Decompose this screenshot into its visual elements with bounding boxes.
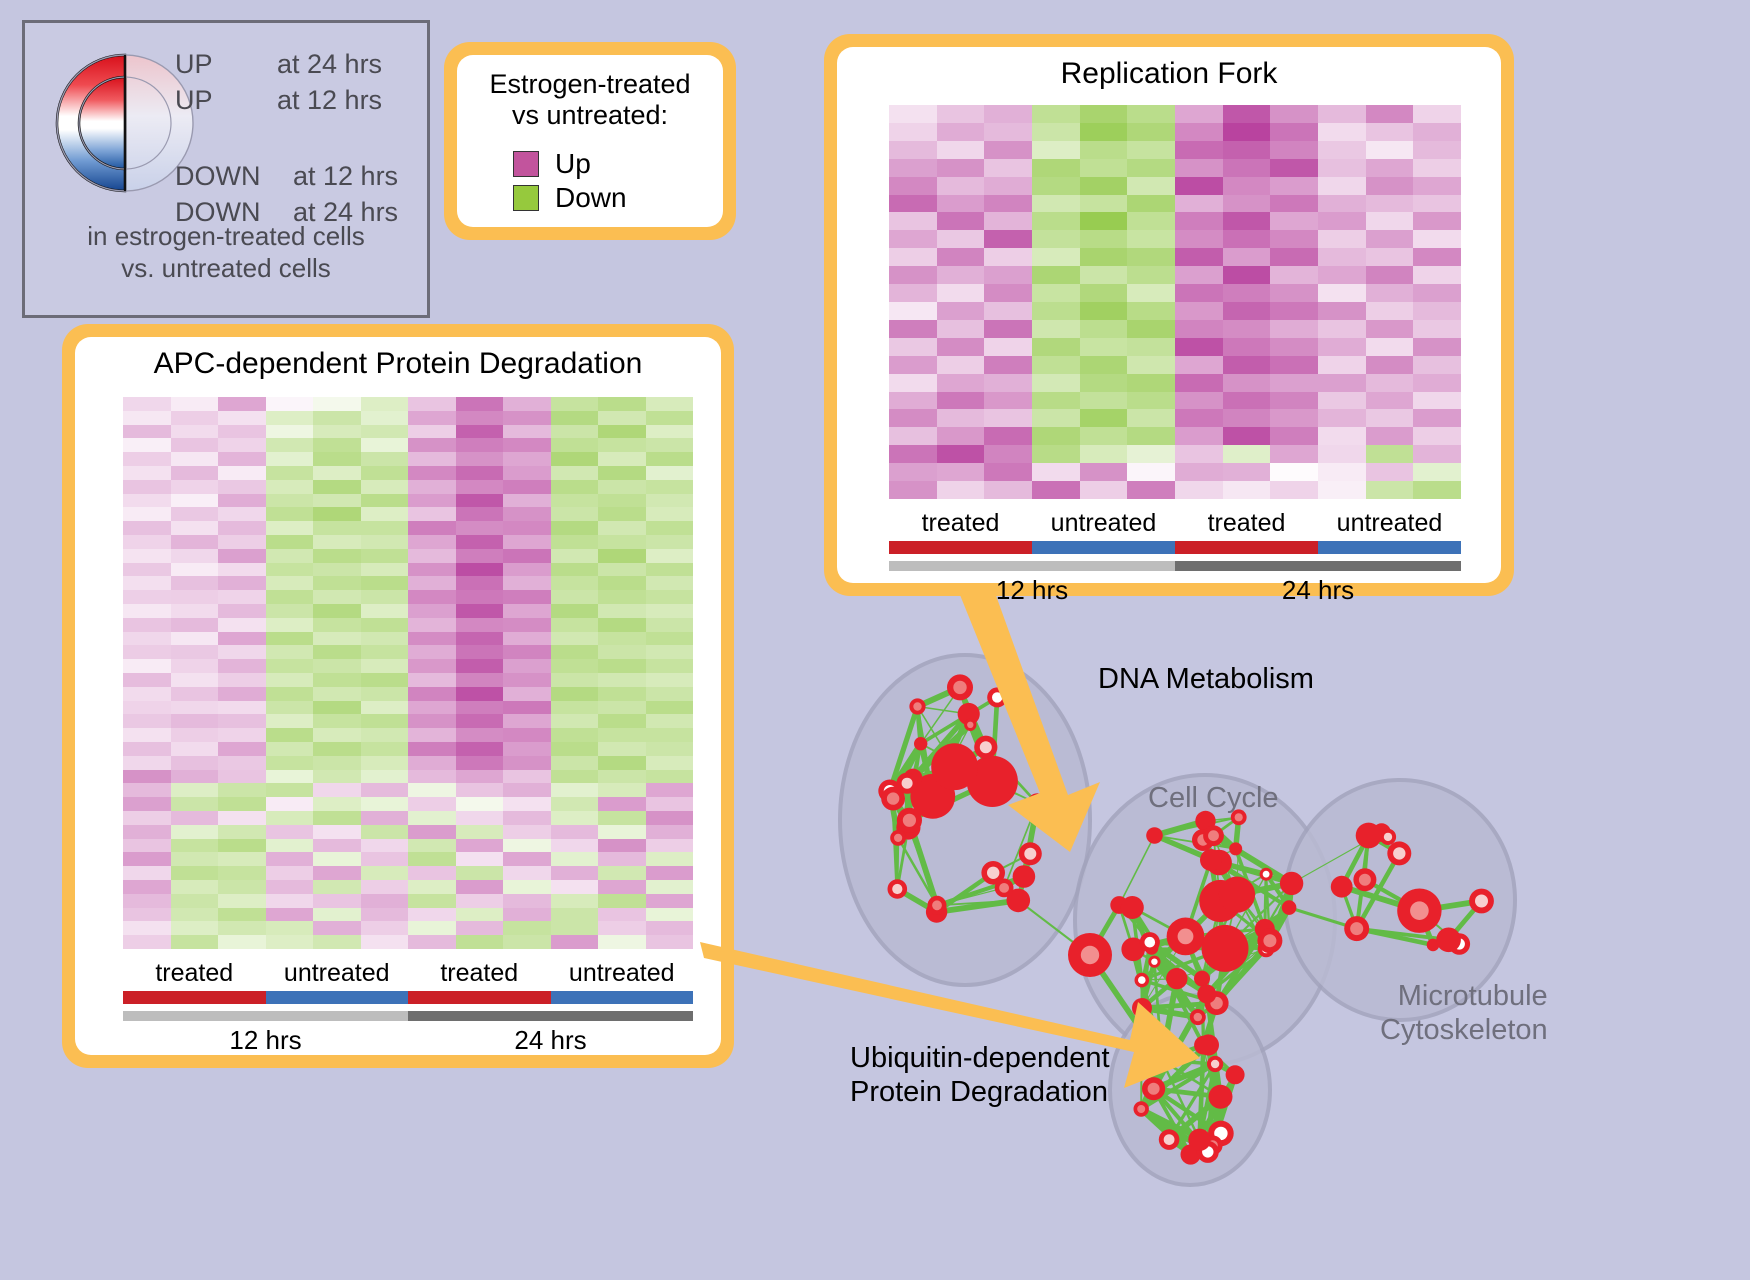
heatmap-cell xyxy=(1127,195,1175,213)
heatmap-cell xyxy=(1223,123,1271,141)
heatmap-cell xyxy=(171,852,219,866)
heatmap-cell xyxy=(408,783,456,797)
heatmap-cell xyxy=(984,212,1032,230)
heatmap-cell xyxy=(551,687,599,701)
heatmap-cell xyxy=(598,645,646,659)
heatmap-cell xyxy=(1127,374,1175,392)
heatmap-cell xyxy=(1032,320,1080,338)
color-key-rings xyxy=(55,41,195,201)
heatmap-cell xyxy=(1413,338,1461,356)
heatmap-cell xyxy=(1127,356,1175,374)
heatmap-cell xyxy=(218,701,266,715)
heatmap-cell xyxy=(123,494,171,508)
key-row-2-time: at 12 hrs xyxy=(293,163,398,190)
heatmap-cell xyxy=(1223,141,1271,159)
heatmap-cell xyxy=(646,521,694,535)
heatmap-cell xyxy=(1032,105,1080,123)
heatmap-cell xyxy=(1366,320,1414,338)
heatmap-cell xyxy=(266,839,314,853)
heatmap-cell xyxy=(1080,427,1128,445)
heatmap-cell xyxy=(456,728,504,742)
heatmap-cell xyxy=(123,880,171,894)
heatmap-cell xyxy=(218,866,266,880)
heatmap-cell xyxy=(361,590,409,604)
heatmap-cell xyxy=(1127,248,1175,266)
heatmap-cell xyxy=(598,590,646,604)
heatmap-cell xyxy=(1318,302,1366,320)
heatmap-cell xyxy=(408,659,456,673)
heatmap-cell xyxy=(218,590,266,604)
heatmap-cell xyxy=(503,480,551,494)
heatmap-cell xyxy=(1175,463,1223,481)
heatmap-cell xyxy=(598,797,646,811)
heatmap-cell xyxy=(171,880,219,894)
heatmap-cell xyxy=(218,659,266,673)
heatmap-cell xyxy=(313,535,361,549)
heatmap-cell xyxy=(1223,212,1271,230)
heatmap-cell xyxy=(408,411,456,425)
heatmap-cell xyxy=(984,392,1032,410)
heatmap-cell xyxy=(266,714,314,728)
heatmap-cell xyxy=(1032,212,1080,230)
heatmap-cell xyxy=(361,701,409,715)
heatmap-cell xyxy=(503,866,551,880)
heatmap-cell xyxy=(456,411,504,425)
heatmap-cell xyxy=(551,839,599,853)
heatmap-cell xyxy=(646,908,694,922)
heatmap-cell xyxy=(937,320,985,338)
heatmap-cell xyxy=(218,397,266,411)
heatmap-cell xyxy=(218,549,266,563)
heatmap-cell xyxy=(646,645,694,659)
heatmap-cell xyxy=(503,466,551,480)
heatmap-cell xyxy=(123,411,171,425)
heatmap-cell xyxy=(171,687,219,701)
heatmap-cell xyxy=(123,397,171,411)
heatmap-cell xyxy=(1366,409,1414,427)
heatmap-cell xyxy=(123,908,171,922)
heatmap-cell xyxy=(1318,320,1366,338)
heatmap-cell xyxy=(1270,230,1318,248)
heatmap-cell xyxy=(123,535,171,549)
heatmap-cell xyxy=(408,590,456,604)
axis-time-bar xyxy=(123,1011,408,1021)
heatmap-cell xyxy=(313,563,361,577)
heatmap-cell xyxy=(123,921,171,935)
heatmap-cell xyxy=(1270,123,1318,141)
heatmap-cell xyxy=(361,921,409,935)
heatmap-cell xyxy=(1032,409,1080,427)
heatmap-cell xyxy=(1318,123,1366,141)
heatmap-cell xyxy=(408,480,456,494)
heatmap-cell xyxy=(456,563,504,577)
heatmap-cell xyxy=(171,494,219,508)
heatmap-cell xyxy=(1032,427,1080,445)
heatmap-cell xyxy=(1318,338,1366,356)
heatmap-cell xyxy=(266,576,314,590)
heatmap-cell xyxy=(1223,284,1271,302)
heatmap-cell xyxy=(266,563,314,577)
heatmap-cell xyxy=(456,673,504,687)
heatmap-cell xyxy=(503,604,551,618)
heatmap-cell xyxy=(937,105,985,123)
heatmap-cell xyxy=(598,480,646,494)
heatmap-cell xyxy=(937,481,985,499)
apc-group-bars xyxy=(123,991,693,1004)
heatmap-cell xyxy=(1413,445,1461,463)
heatmap-cell xyxy=(503,590,551,604)
heatmap-cell xyxy=(598,894,646,908)
axis-group-bar xyxy=(408,991,551,1004)
heatmap-cell xyxy=(313,452,361,466)
heatmap-cell xyxy=(171,576,219,590)
heatmap-cell xyxy=(361,576,409,590)
heatmap-cell xyxy=(218,825,266,839)
axis-group-bar xyxy=(266,991,409,1004)
heatmap-cell xyxy=(1032,159,1080,177)
heatmap-cell xyxy=(1318,230,1366,248)
heatmap-cell xyxy=(646,935,694,949)
heatmap-cell xyxy=(171,728,219,742)
heatmap-cell xyxy=(123,590,171,604)
heatmap-cell xyxy=(1127,141,1175,159)
heatmap-cell xyxy=(646,494,694,508)
heatmap-cell xyxy=(646,563,694,577)
heatmap-cell xyxy=(1080,212,1128,230)
heatmap-cell xyxy=(456,466,504,480)
heatmap-cell xyxy=(646,535,694,549)
heatmap-cell xyxy=(266,494,314,508)
heatmap-cell xyxy=(503,618,551,632)
heatmap-cell xyxy=(1318,141,1366,159)
heatmap-cell xyxy=(313,673,361,687)
heatmap-cell xyxy=(313,645,361,659)
heatmap-cell xyxy=(1223,302,1271,320)
heatmap-cell xyxy=(123,894,171,908)
apc-time-labels: 12 hrs24 hrs xyxy=(123,1025,693,1056)
heatmap-cell xyxy=(1127,463,1175,481)
heatmap-cell xyxy=(646,659,694,673)
heatmap-cell xyxy=(456,839,504,853)
heatmap-cell xyxy=(456,590,504,604)
heatmap-cell xyxy=(1366,302,1414,320)
heatmap-cell xyxy=(123,466,171,480)
heatmap-cell xyxy=(646,604,694,618)
heatmap-cell xyxy=(551,783,599,797)
heatmap-cell xyxy=(503,521,551,535)
axis-group-label: treated xyxy=(123,959,266,988)
heatmap-cell xyxy=(503,935,551,949)
heatmap-cell xyxy=(646,894,694,908)
heatmap-cell xyxy=(937,284,985,302)
heatmap-cell xyxy=(361,535,409,549)
heatmap-cell xyxy=(937,374,985,392)
heatmap-cell xyxy=(503,839,551,853)
heatmap-cell xyxy=(456,770,504,784)
heatmap-cell xyxy=(266,604,314,618)
heatmap-cell xyxy=(1175,356,1223,374)
heatmap-cell xyxy=(266,908,314,922)
heatmap-cell xyxy=(937,195,985,213)
heatmap-cell xyxy=(1270,320,1318,338)
heatmap-cell xyxy=(266,852,314,866)
heatmap-cell xyxy=(361,839,409,853)
heatmap-cell xyxy=(361,783,409,797)
heatmap-cell xyxy=(456,507,504,521)
heatmap-cell xyxy=(361,811,409,825)
heatmap-cell xyxy=(123,866,171,880)
heatmap-cell xyxy=(598,507,646,521)
heatmap-cell xyxy=(1080,105,1128,123)
heatmap-cell xyxy=(408,507,456,521)
heatmap-cell xyxy=(551,632,599,646)
heatmap-cell xyxy=(1175,481,1223,499)
heatmap-cell xyxy=(1366,392,1414,410)
heatmap-cell xyxy=(1270,463,1318,481)
heatmap-cell xyxy=(313,921,361,935)
heatmap-cell xyxy=(503,921,551,935)
heatmap-cell xyxy=(171,673,219,687)
heatmap-cell xyxy=(218,783,266,797)
heatmap-cell xyxy=(598,632,646,646)
heatmap-cell xyxy=(1127,338,1175,356)
heatmap-cell xyxy=(551,935,599,949)
heatmap-cell xyxy=(646,825,694,839)
heatmap-cell xyxy=(1413,248,1461,266)
heatmap-cell xyxy=(361,397,409,411)
heatmap-cell xyxy=(598,728,646,742)
heatmap-cell xyxy=(646,714,694,728)
heatmap-cell xyxy=(123,645,171,659)
heatmap-cell xyxy=(266,673,314,687)
heatmap-cell xyxy=(266,770,314,784)
heatmap-cell xyxy=(361,756,409,770)
heatmap-cell xyxy=(313,935,361,949)
heatmap-cell xyxy=(1270,445,1318,463)
heatmap-cell xyxy=(937,463,985,481)
heatmap-cell xyxy=(646,783,694,797)
heatmap-cell xyxy=(937,302,985,320)
heatmap-cell xyxy=(266,632,314,646)
heatmap-cell xyxy=(1270,338,1318,356)
heatmap-cell xyxy=(984,195,1032,213)
heatmap-cell xyxy=(551,618,599,632)
key-row-2-label: DOWN xyxy=(175,161,260,191)
heatmap-cell xyxy=(646,866,694,880)
heatmap-cell xyxy=(1270,427,1318,445)
heatmap-cell xyxy=(1223,230,1271,248)
heatmap-cell xyxy=(171,714,219,728)
heatmap-cell xyxy=(937,177,985,195)
heatmap-cell xyxy=(171,659,219,673)
heatmap-cell xyxy=(361,908,409,922)
heatmap-cell xyxy=(266,935,314,949)
heatmap-cell xyxy=(1223,320,1271,338)
heatmap-cell xyxy=(313,549,361,563)
heatmap-cell xyxy=(1032,248,1080,266)
heatmap-cell xyxy=(1223,356,1271,374)
heatmap-cell xyxy=(266,701,314,715)
heatmap-cell xyxy=(551,590,599,604)
heatmap-cell xyxy=(551,535,599,549)
apc-time-bars xyxy=(123,1011,693,1021)
heatmap-cell xyxy=(937,338,985,356)
heatmap-cell xyxy=(1175,266,1223,284)
heatmap-cell xyxy=(1080,338,1128,356)
heatmap-cell xyxy=(598,701,646,715)
heatmap-cell xyxy=(889,230,937,248)
heatmap-cell xyxy=(551,576,599,590)
heatmap-cell xyxy=(1413,463,1461,481)
heatmap-cell xyxy=(361,604,409,618)
axis-group-label: untreated xyxy=(1032,509,1175,538)
heatmap-cell xyxy=(598,935,646,949)
heatmap-cell xyxy=(1413,320,1461,338)
heatmap-cell xyxy=(646,425,694,439)
heatmap-cell xyxy=(598,921,646,935)
heatmap-cell xyxy=(313,494,361,508)
heatmap-cell xyxy=(361,797,409,811)
apc-group-labels: treateduntreatedtreateduntreated xyxy=(123,959,693,988)
heatmap-cell xyxy=(1080,230,1128,248)
heatmap-cell xyxy=(1318,284,1366,302)
heatmap-cell xyxy=(361,659,409,673)
heatmap-cell xyxy=(646,507,694,521)
heatmap-cell xyxy=(984,141,1032,159)
heatmap-cell xyxy=(171,839,219,853)
heatmap-cell xyxy=(456,425,504,439)
heatmap-cell xyxy=(1318,374,1366,392)
heatmap-cell xyxy=(1223,374,1271,392)
heatmap-cell xyxy=(1270,392,1318,410)
heatmap-cell xyxy=(1413,141,1461,159)
heatmap-cell xyxy=(408,687,456,701)
heatmap-cell xyxy=(1318,195,1366,213)
heatmap-cell xyxy=(984,177,1032,195)
heatmap-cell xyxy=(313,466,361,480)
heatmap-cell xyxy=(646,466,694,480)
heatmap-cell xyxy=(1175,445,1223,463)
heatmap-cell xyxy=(598,756,646,770)
heatmap-cell xyxy=(456,632,504,646)
heatmap-cell xyxy=(1032,463,1080,481)
heatmap-cell xyxy=(1080,463,1128,481)
heatmap-cell xyxy=(598,535,646,549)
heatmap-cell xyxy=(984,266,1032,284)
replication-fork-heatmap xyxy=(889,105,1461,499)
heatmap-cell xyxy=(646,397,694,411)
heatmap-cell xyxy=(408,645,456,659)
heatmap-cell xyxy=(551,908,599,922)
heatmap-cell xyxy=(456,494,504,508)
heatmap-cell xyxy=(1270,105,1318,123)
heatmap-cell xyxy=(361,687,409,701)
heatmap-cell xyxy=(361,714,409,728)
heatmap-cell xyxy=(408,604,456,618)
heatmap-cell xyxy=(646,411,694,425)
heatmap-cell xyxy=(123,701,171,715)
heatmap-cell xyxy=(984,320,1032,338)
heatmap-cell xyxy=(937,230,985,248)
heatmap-cell xyxy=(171,797,219,811)
arrow-replication-fork-icon xyxy=(950,590,1130,860)
key-row-0-label: UP xyxy=(175,49,213,79)
heatmap-cell xyxy=(551,438,599,452)
heatmap-cell xyxy=(1175,284,1223,302)
heatmap-cell xyxy=(889,338,937,356)
heatmap-cell xyxy=(1318,248,1366,266)
heatmap-cell xyxy=(1080,284,1128,302)
heatmap-cell xyxy=(1032,141,1080,159)
heatmap-cell xyxy=(361,521,409,535)
heatmap-cell xyxy=(123,770,171,784)
heatmap-cell xyxy=(218,425,266,439)
heatmap-cell xyxy=(171,397,219,411)
heatmap-cell xyxy=(361,632,409,646)
axis-group-label: treated xyxy=(889,509,1032,538)
heatmap-cell xyxy=(1413,284,1461,302)
heatmap-cell xyxy=(266,438,314,452)
heatmap-cell xyxy=(1223,338,1271,356)
heatmap-cell xyxy=(889,427,937,445)
heatmap-cell xyxy=(266,921,314,935)
heatmap-cell xyxy=(171,438,219,452)
heatmap-cell xyxy=(266,618,314,632)
heatmap-cell xyxy=(1032,481,1080,499)
heatmap-cell xyxy=(1366,195,1414,213)
heatmap-cell xyxy=(1175,159,1223,177)
heatmap-cell xyxy=(1366,230,1414,248)
heatmap-cell xyxy=(1223,248,1271,266)
heatmap-cell xyxy=(1223,427,1271,445)
heatmap-cell xyxy=(646,742,694,756)
heatmap-cell xyxy=(313,576,361,590)
heatmap-cell xyxy=(1413,481,1461,499)
heatmap-cell xyxy=(598,563,646,577)
heatmap-cell xyxy=(313,742,361,756)
heatmap-cell xyxy=(551,411,599,425)
heatmap-cell xyxy=(984,230,1032,248)
heatmap-cell xyxy=(313,507,361,521)
heatmap-cell xyxy=(171,811,219,825)
heatmap-cell xyxy=(1175,338,1223,356)
heatmap-cell xyxy=(1413,159,1461,177)
heatmap-cell xyxy=(171,935,219,949)
heatmap-cell xyxy=(171,425,219,439)
legend-label-up: Up xyxy=(555,148,591,180)
heatmap-cell xyxy=(361,825,409,839)
heatmap-cell xyxy=(313,728,361,742)
heatmap-cell xyxy=(266,687,314,701)
heatmap-cell xyxy=(123,576,171,590)
heatmap-cell xyxy=(123,935,171,949)
heatmap-cell xyxy=(1270,481,1318,499)
heatmap-cell xyxy=(889,105,937,123)
heatmap-cell xyxy=(1032,374,1080,392)
heatmap-cell xyxy=(171,921,219,935)
heatmap-cell xyxy=(889,374,937,392)
heatmap-cell xyxy=(1175,230,1223,248)
panel-replication-fork: Replication Fork treateduntreatedtreated… xyxy=(824,34,1514,596)
heatmap-cell xyxy=(937,159,985,177)
heatmap-cell xyxy=(456,687,504,701)
heatmap-cell xyxy=(503,742,551,756)
heatmap-cell xyxy=(503,425,551,439)
heatmap-cell xyxy=(1175,392,1223,410)
heatmap-cell xyxy=(1413,356,1461,374)
heatmap-cell xyxy=(313,839,361,853)
heatmap-cell xyxy=(503,535,551,549)
